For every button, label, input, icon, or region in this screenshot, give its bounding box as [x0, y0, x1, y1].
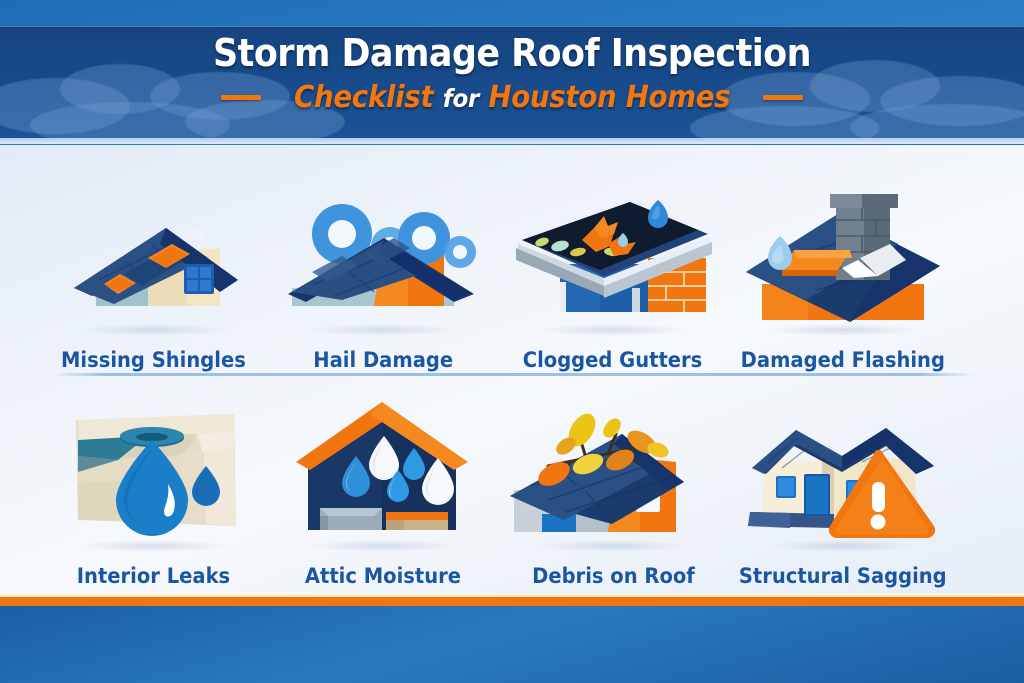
roof-hailstones-icon	[278, 188, 488, 338]
dash-left-icon	[221, 95, 261, 100]
chimney-flashing-icon	[738, 188, 948, 338]
footer	[0, 606, 1024, 683]
checklist-label: Interior Leaks	[76, 564, 229, 588]
checklist-label: Clogged Gutters	[523, 348, 703, 372]
checklist-item-debris-on-roof[interactable]: Debris on Roof	[498, 383, 728, 588]
subtitle-accent-1: Checklist	[294, 80, 433, 115]
infographic-poster: Storm Damage Roof Inspection Checklist f…	[0, 0, 1024, 683]
subtitle-row: Checklist for Houston Homes	[0, 80, 1024, 115]
checklist-item-missing-shingles[interactable]: Missing Shingles	[38, 167, 268, 372]
checklist-item-hail-damage[interactable]: Hail Damage	[268, 167, 498, 372]
page-subtitle: Checklist for Houston Homes	[294, 80, 730, 115]
checklist-label: Debris on Roof	[532, 564, 695, 588]
checklist-label: Attic Moisture	[305, 564, 461, 588]
house-missing-shingles-icon	[48, 188, 258, 338]
subtitle-plain: for	[443, 84, 479, 113]
checklist-item-clogged-gutters[interactable]: Clogged Gutters	[498, 167, 728, 372]
subtitle-accent-2: Houston Homes	[488, 80, 730, 115]
roof-branch-leaves-icon	[508, 404, 718, 554]
checklist-item-structural-sagging[interactable]: Structural Sagging	[728, 383, 958, 588]
checklist-item-damaged-flashing[interactable]: Damaged Flashing	[728, 167, 958, 372]
checklist-grid: Missing Shingles	[0, 145, 1024, 593]
checklist-label: Missing Shingles	[61, 348, 246, 372]
checklist-label: Hail Damage	[313, 348, 453, 372]
attic-droplets-icon	[278, 404, 488, 554]
ceiling-waterdrop-icon	[48, 404, 258, 554]
checklist-label: Damaged Flashing	[741, 348, 945, 372]
dash-right-icon	[763, 95, 803, 100]
checklist-item-interior-leaks[interactable]: Interior Leaks	[38, 383, 268, 588]
checklist-label: Structural Sagging	[739, 564, 947, 588]
checklist-panel: Missing Shingles	[0, 145, 1024, 593]
sagging-house-warning-icon	[738, 404, 948, 554]
header: Storm Damage Roof Inspection Checklist f…	[0, 0, 1024, 144]
header-underline	[0, 138, 1024, 144]
checklist-item-attic-moisture[interactable]: Attic Moisture	[268, 383, 498, 588]
gutter-leaves-water-icon	[508, 188, 718, 338]
footer-accent-bar	[0, 597, 1024, 606]
page-title: Storm Damage Roof Inspection	[41, 30, 983, 76]
title-block: Storm Damage Roof Inspection Checklist f…	[0, 30, 1024, 115]
